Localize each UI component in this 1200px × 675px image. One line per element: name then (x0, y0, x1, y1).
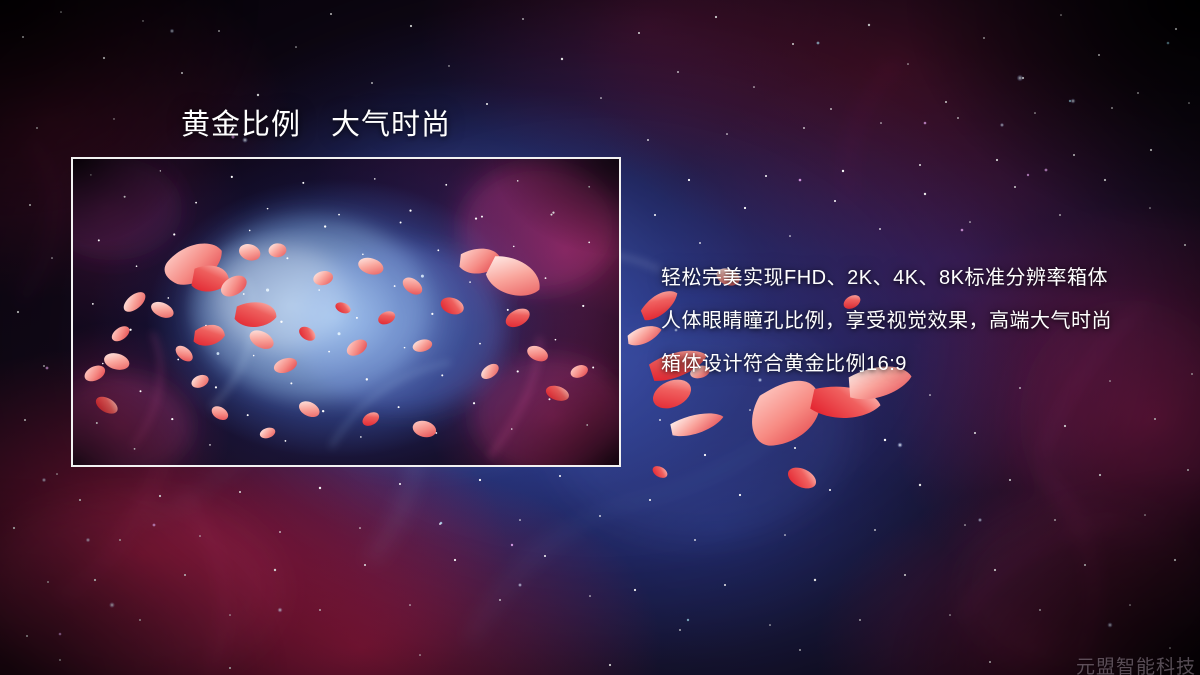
watermark-label: 元盟智能科技 (1076, 652, 1196, 675)
body-line: 轻松完美实现FHD、2K、4K、8K标准分辨率箱体 (661, 257, 1171, 300)
body-line: 人体眼睛瞳孔比例，享受视觉效果，高端大气时尚 (661, 300, 1171, 343)
body-line: 箱体设计符合黄金比例16:9 (661, 343, 1171, 386)
body-text-block: 轻松完美实现FHD、2K、4K、8K标准分辨率箱体 人体眼睛瞳孔比例，享受视觉效… (661, 257, 1171, 386)
photo-corner-shading (73, 159, 619, 465)
framed-product-image[interactable] (71, 157, 621, 467)
photo-inner (73, 159, 619, 465)
page-title: 黄金比例 大气时尚 (181, 101, 451, 143)
presentation-slide: 黄金比例 大气时尚 轻松完美实现FHD、2K、4K、8K标准分辨率箱体 人体眼睛… (0, 0, 1200, 675)
